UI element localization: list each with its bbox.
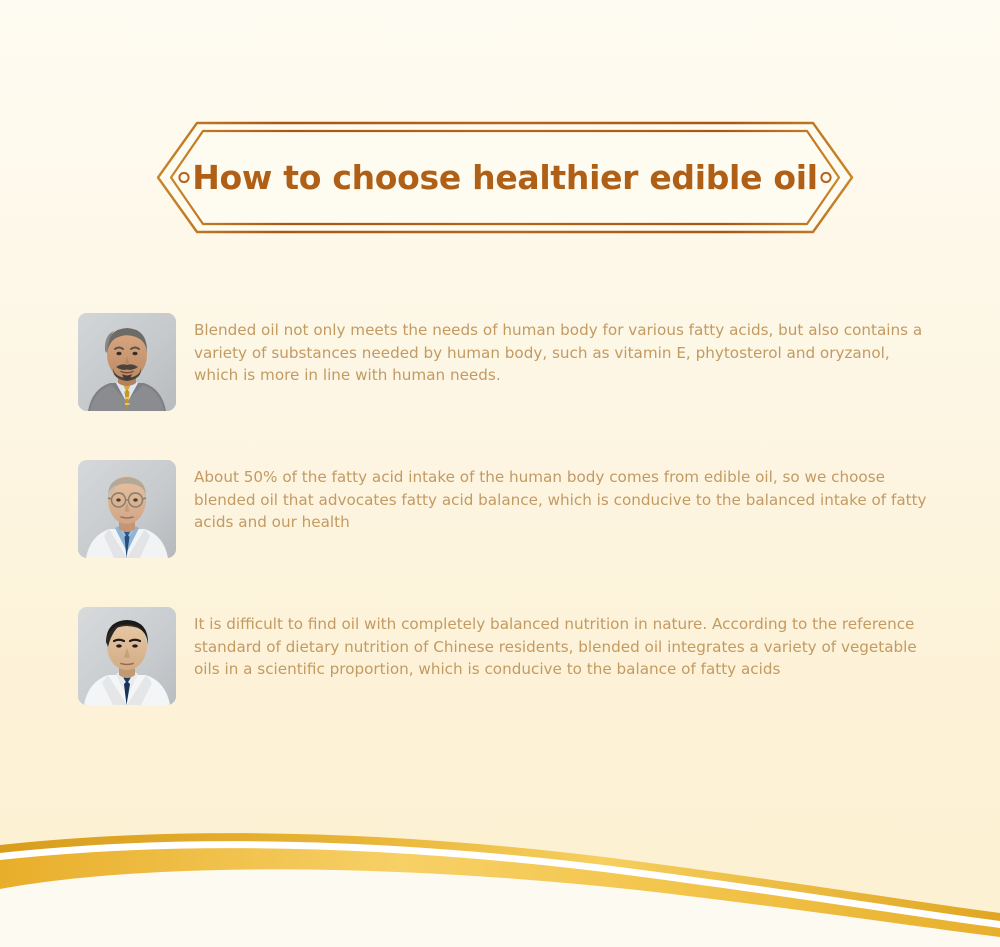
avatar-expert-1 xyxy=(78,313,176,411)
avatar-expert-3 xyxy=(78,607,176,705)
expert-quote-row: It is difficult to find oil with complet… xyxy=(78,607,938,705)
page-title: How to choose healthier edible oil xyxy=(155,120,855,235)
expert-quote-text: It is difficult to find oil with complet… xyxy=(194,607,934,681)
bottom-wave-decoration xyxy=(0,817,1000,947)
avatar-expert-3-image xyxy=(78,607,176,705)
title-banner: How to choose healthier edible oil xyxy=(155,120,855,235)
expert-quote-row: Blended oil not only meets the needs of … xyxy=(78,313,938,411)
avatar-expert-2 xyxy=(78,460,176,558)
avatar-expert-2-image xyxy=(78,460,176,558)
page-root: How to choose healthier edible oil xyxy=(0,0,1000,947)
avatar-expert-1-image xyxy=(78,313,176,411)
expert-quote-text: About 50% of the fatty acid intake of th… xyxy=(194,460,934,534)
expert-quote-row: About 50% of the fatty acid intake of th… xyxy=(78,460,938,558)
expert-quote-text: Blended oil not only meets the needs of … xyxy=(194,313,934,387)
